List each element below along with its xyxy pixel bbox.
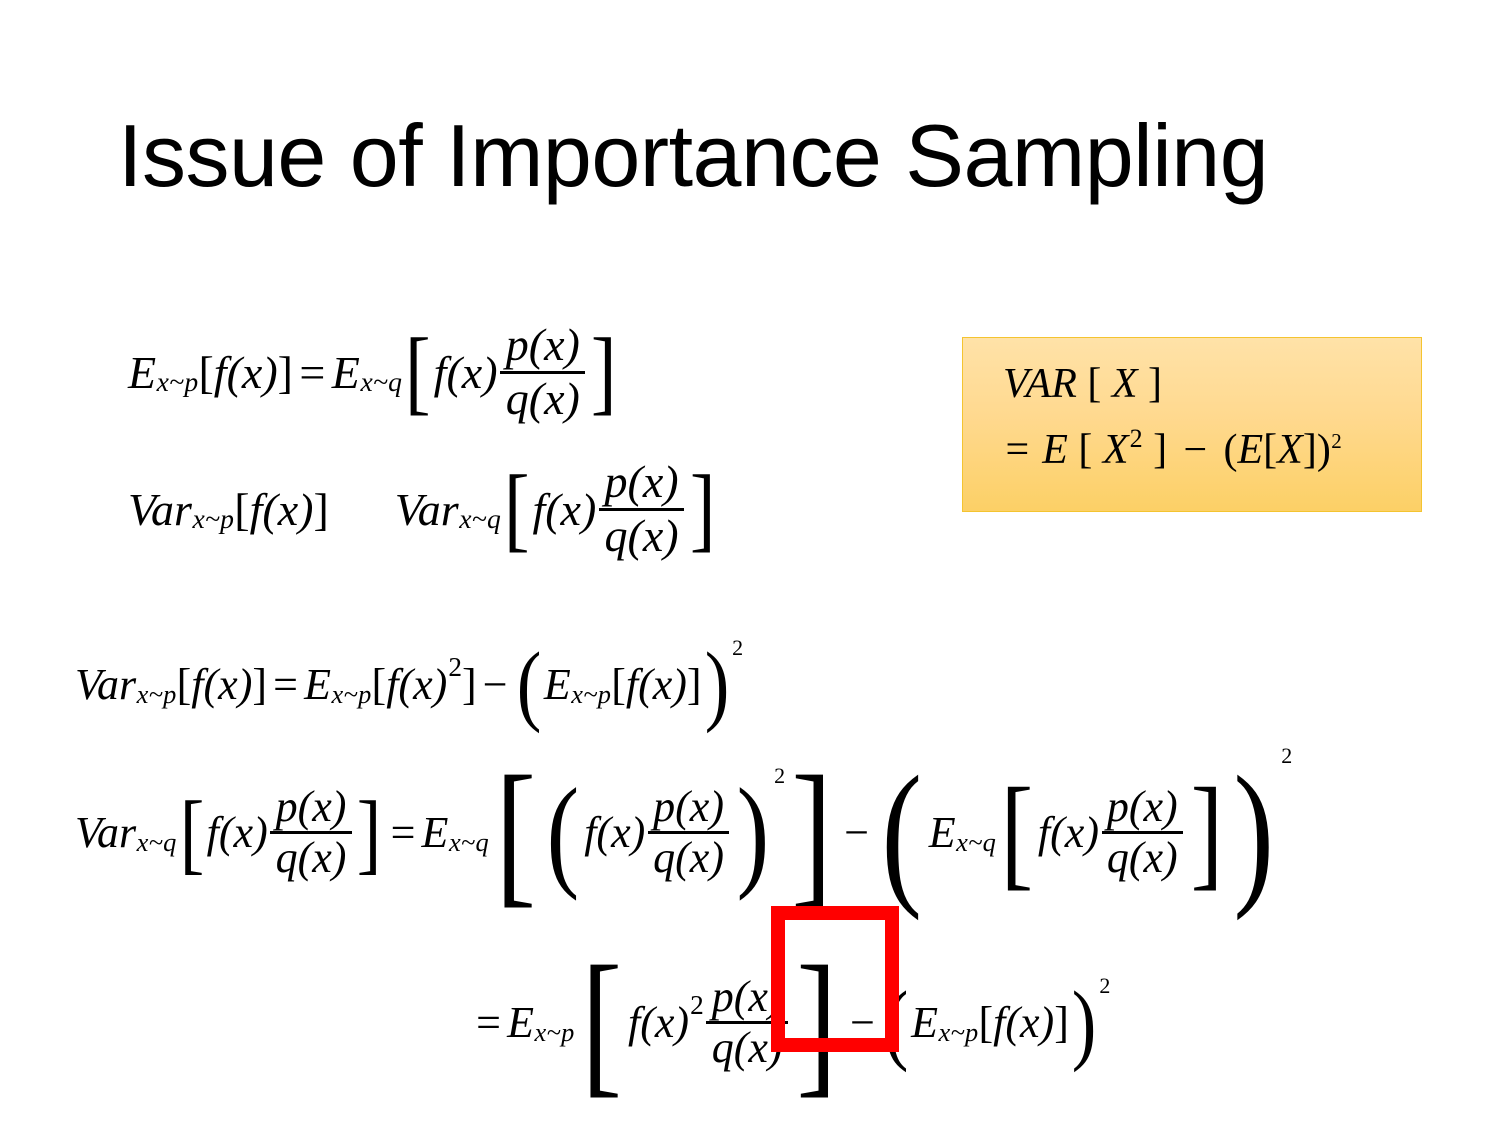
right-paren: ): [1234, 740, 1275, 925]
subscript-x-sim-p: x~p: [939, 1017, 979, 1048]
right-bracket: ]: [690, 455, 716, 563]
minus-sign: −: [850, 997, 875, 1048]
numerator-p-of-x: p(x): [500, 322, 585, 368]
function-f-of-x: f(x): [584, 807, 645, 858]
numerator-p-of-x: p(x): [270, 785, 351, 829]
minus-sign: −: [1183, 427, 1207, 473]
function-f-of-x: f(x): [628, 997, 689, 1048]
symbol-E: E: [544, 659, 571, 710]
subscript-x-sim-q: x~q: [360, 366, 402, 398]
right-paren: ): [704, 632, 729, 736]
symbol-E: E: [422, 807, 449, 858]
left-bracket: [: [405, 318, 431, 426]
function-f-of-x: f(x): [386, 659, 447, 710]
squared-group: ( Ex~p [ f(x) ] ) 2: [514, 632, 743, 736]
right-bracket: ]: [791, 740, 832, 925]
function-f-of-x: f(x): [993, 997, 1054, 1048]
squared-group: ( Ex~p [ f(x) ] ) 2: [881, 971, 1110, 1075]
left-bracket: [: [179, 781, 204, 885]
denominator-q-of-x: q(x): [270, 836, 351, 880]
symbol-X: X: [1277, 426, 1303, 474]
callout-line-2: = E [ X2 ] − ( E [ X ] ) 2: [1003, 426, 1421, 474]
function-f-of-x: f(x): [250, 483, 314, 536]
subscript-x-sim-q: x~q: [137, 827, 177, 858]
left-bracket: [: [177, 659, 192, 710]
symbol-E: E: [929, 807, 956, 858]
fraction-p-over-q: p(x) q(x): [270, 785, 351, 880]
slide-canvas: Issue of Importance Sampling Ex~p [ f(x)…: [0, 0, 1500, 1125]
function-f-of-x: f(x): [1038, 807, 1099, 858]
denominator-q-of-x: q(x): [599, 513, 684, 559]
symbol-E: E: [1042, 427, 1068, 473]
left-bracket: [: [198, 346, 213, 399]
left-bracket: [: [1087, 361, 1101, 407]
left-paren: (: [1224, 426, 1238, 474]
symbol-E: E: [911, 997, 938, 1048]
right-bracket: ]: [1190, 761, 1223, 905]
symbol-VAR: VAR: [1003, 361, 1077, 407]
subscript-x-sim-p: x~p: [332, 679, 372, 710]
exponent-two: 2: [690, 990, 704, 1021]
right-bracket: ]: [278, 346, 293, 399]
exponent-two: 2: [1281, 743, 1292, 769]
equals-sign: =: [273, 659, 298, 710]
page-title: Issue of Importance Sampling: [118, 110, 1268, 202]
equals-sign: =: [299, 346, 325, 399]
equation-variance-under-q-expanded: Varx~q [ f(x) p(x) q(x) ] = Ex~q [ ( f(x…: [75, 740, 1292, 925]
squared-group: ( f(x) p(x) q(x) ) 2: [542, 761, 784, 905]
symbol-E: E: [304, 659, 331, 710]
minus-sign: −: [844, 807, 869, 858]
subscript-x-sim-p: x~p: [157, 366, 199, 398]
symbol-Var: Var: [128, 483, 192, 536]
function-f-of-x: f(x): [191, 659, 252, 710]
symbol-E: E: [332, 346, 360, 399]
equals-sign: =: [476, 997, 501, 1048]
symbol-Var: Var: [75, 659, 136, 710]
function-f-of-x: f(x): [214, 346, 278, 399]
fraction-p-over-q: p(x) q(x): [648, 785, 729, 880]
right-bracket: ]: [252, 659, 267, 710]
right-bracket: ]: [1148, 361, 1162, 407]
left-bracket: [: [495, 740, 536, 925]
equation-variance-under-p: Varx~p [ f(x) ] = Ex~p [ f(x)2 ] − ( Ex~…: [75, 632, 743, 736]
squared-group: ( E [ X ] ) 2: [1224, 426, 1342, 474]
numerator-p-of-x: p(x): [706, 975, 787, 1019]
symbol-X: X: [1112, 361, 1138, 407]
left-paren: (: [547, 761, 580, 905]
left-bracket: [: [372, 659, 387, 710]
left-bracket: [: [581, 930, 622, 1115]
subscript-x-sim-q: x~q: [449, 827, 489, 858]
function-f-of-x: f(x): [532, 483, 596, 536]
fraction-p-over-q-highlighted: p(x) q(x): [706, 975, 787, 1070]
left-bracket: [: [611, 659, 626, 710]
right-bracket: ]: [1153, 427, 1167, 473]
denominator-q-of-x: q(x): [706, 1026, 787, 1070]
left-bracket: [: [1263, 426, 1277, 474]
fraction-p-over-q: p(x) q(x): [599, 459, 684, 559]
squared-group: ( Ex~q [ f(x) p(x) q(x) ] ) 2: [875, 740, 1292, 925]
subscript-x-sim-p: x~p: [137, 679, 177, 710]
right-bracket: ]: [1303, 426, 1317, 474]
right-bracket: ]: [591, 318, 617, 426]
variance-definition-callout: VAR [ X ] = E [ X2 ] − ( E [ X ] ) 2: [962, 337, 1422, 512]
equals-sign: =: [1006, 427, 1030, 473]
equation-variance-final-form: = Ex~p [ f(x)2 p(x) q(x) ] − ( Ex~p [ f(…: [470, 930, 1110, 1115]
denominator-q-of-x: q(x): [1102, 836, 1183, 880]
denominator-q-of-x: q(x): [648, 836, 729, 880]
subscript-x-sim-q: x~q: [459, 503, 501, 535]
subscript-x-sim-p: x~p: [571, 679, 611, 710]
left-paren: (: [882, 740, 923, 925]
minus-sign: −: [483, 659, 508, 710]
right-paren: ): [736, 761, 769, 905]
fraction-p-over-q: p(x) q(x): [1102, 785, 1183, 880]
right-bracket: ]: [687, 659, 702, 710]
right-paren: ): [1317, 426, 1331, 474]
numerator-p-of-x: p(x): [599, 459, 684, 505]
numerator-p-of-x: p(x): [1102, 785, 1183, 829]
right-bracket: ]: [357, 781, 382, 885]
function-f-of-x: f(x): [626, 659, 687, 710]
callout-line-1: VAR [ X ]: [1003, 360, 1421, 408]
exponent-two: 2: [1099, 973, 1110, 999]
subscript-x-sim-p: x~p: [192, 503, 234, 535]
subscript-x-sim-p: x~p: [535, 1017, 575, 1048]
denominator-q-of-x: q(x): [500, 376, 585, 422]
symbol-Var: Var: [75, 807, 136, 858]
left-bracket: [: [978, 997, 993, 1048]
right-bracket: ]: [1054, 997, 1069, 1048]
right-bracket: ]: [797, 930, 838, 1115]
symbol-X: X: [1103, 427, 1129, 473]
left-paren: (: [884, 971, 909, 1075]
equation-variance-comparison: Varx~p [ f(x) ] Varx~q [ f(x) p(x) q(x) …: [128, 455, 718, 563]
right-bracket: ]: [313, 483, 328, 536]
symbol-E: E: [507, 997, 534, 1048]
exponent-two: 2: [732, 635, 743, 661]
symbol-E: E: [1238, 426, 1264, 474]
left-bracket: [: [504, 455, 530, 563]
equals-sign: =: [391, 807, 416, 858]
left-bracket: [: [234, 483, 249, 536]
right-paren: ): [1072, 971, 1097, 1075]
function-f-of-x: f(x): [207, 807, 268, 858]
left-paren: (: [516, 632, 541, 736]
subscript-x-sim-q: x~q: [956, 827, 996, 858]
left-bracket: [: [1001, 761, 1034, 905]
equation-expectation-identity: Ex~p [ f(x) ] = Ex~q [ f(x) p(x) q(x) ]: [128, 318, 620, 426]
numerator-p-of-x: p(x): [648, 785, 729, 829]
fraction-p-over-q: p(x) q(x): [500, 322, 585, 422]
exponent-two: 2: [1331, 429, 1342, 454]
symbol-E: E: [128, 346, 156, 399]
exponent-two: 2: [448, 652, 462, 683]
symbol-Var: Var: [395, 483, 459, 536]
function-f-of-x: f(x): [434, 346, 498, 399]
right-bracket: ]: [462, 659, 477, 710]
exponent-two: 2: [774, 763, 785, 789]
exponent-two: 2: [1130, 424, 1143, 453]
left-bracket: [: [1078, 427, 1092, 473]
